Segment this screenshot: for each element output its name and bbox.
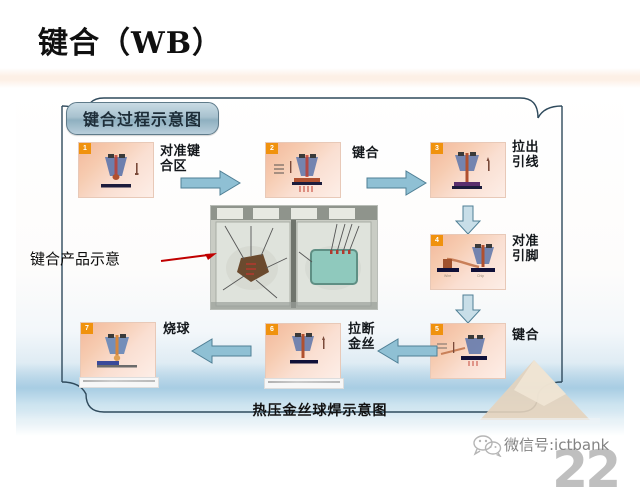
step-thumbnail-7: 7 (80, 322, 156, 378)
step-label-5: 键合 (512, 328, 539, 343)
capillary-illustration-2 (266, 143, 340, 197)
mountain-decoration (480, 360, 600, 432)
flow-arrow-2-to-3 (366, 170, 428, 196)
step-thumbnail-2: 2 (265, 142, 341, 198)
diagram-header-badge: 键合过程示意图 (66, 102, 219, 135)
step-label-4: 对准 引脚 (512, 234, 539, 264)
step-thumbnail-3: 3 (430, 142, 506, 198)
step-caption-7 (79, 377, 159, 388)
step-label-7: 烧球 (163, 322, 190, 337)
title-rule (0, 76, 640, 80)
flow-arrow-3-to-4 (455, 205, 481, 235)
wechat-icon (472, 435, 502, 457)
step-label-3: 拉出 引线 (512, 140, 539, 170)
step-thumbnail-1: 1 (78, 142, 154, 198)
bonded-product-photo (211, 206, 377, 309)
flow-arrow-5-to-6 (376, 338, 438, 364)
step-thumbnail-6: 6 (265, 323, 341, 379)
capillary-illustration-7 (81, 323, 155, 377)
step-label-6: 拉断 金丝 (348, 322, 375, 352)
watermark: 微信号:ictbank 22 (470, 432, 640, 480)
annotation-label: 键合产品示意 (30, 248, 120, 269)
step-thumbnail-4: 4 WireChip (430, 234, 506, 290)
slide: 键合（WB） 键合过程示意图 1 对准键 合区 2 (0, 0, 640, 480)
svg-text:Chip: Chip (477, 274, 484, 278)
page-number: 22 (552, 444, 618, 496)
capillary-illustration-4: WireChip (431, 235, 505, 289)
page-title: 键合（WB） (38, 18, 223, 62)
capillary-illustration-3 (431, 143, 505, 197)
center-photo (210, 205, 378, 310)
capillary-illustration-1 (79, 143, 153, 197)
capillary-illustration-6 (266, 324, 340, 378)
step-caption-6 (264, 378, 344, 389)
annotation-red-arrow (160, 250, 218, 266)
svg-text:Wire: Wire (444, 274, 451, 278)
flow-arrow-1-to-2 (180, 170, 242, 196)
flow-arrow-6-to-7 (190, 338, 252, 364)
flow-arrow-4-to-5 (455, 294, 481, 324)
step-label-2: 键合 (352, 146, 379, 161)
